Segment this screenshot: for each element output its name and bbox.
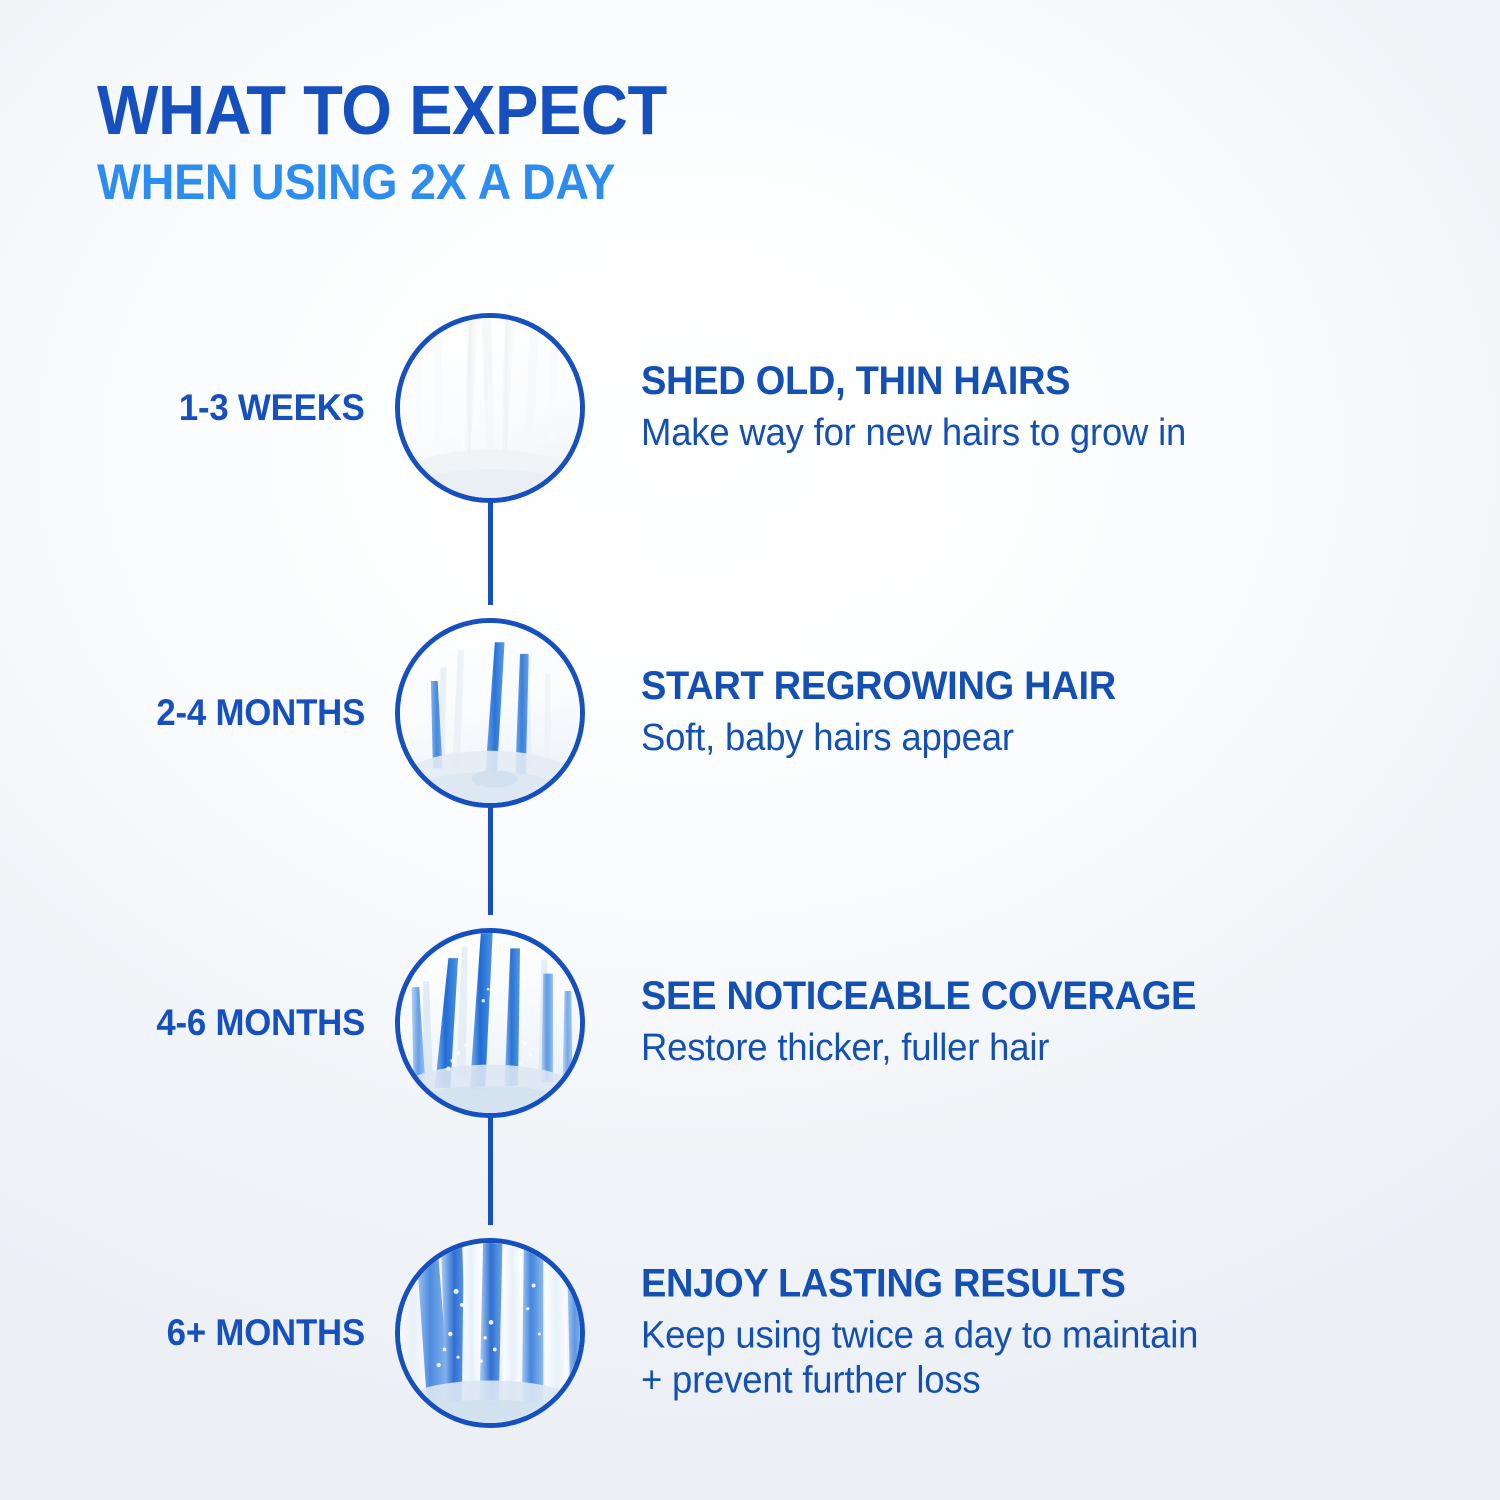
timeline-step-3-period: 4-6 MONTHS [60,1002,365,1044]
timeline-connector-2 [488,800,493,915]
infographic-poster: WHAT TO EXPECT WHEN USING 2X A DAY 1-3 W… [0,0,1500,1500]
timeline-step-1-period: 1-3 WEEKS [60,387,365,429]
hair-follicle-thin-pale-icon [398,316,582,500]
timeline-step-3[interactable]: 4-6 MONTHS [0,923,1500,1123]
timeline-step-4-period: 6+ MONTHS [60,1312,365,1354]
timeline-step-4-headline-text: ENJOY LASTING RESULTS [641,1263,1126,1305]
timeline-step-1-headline: SHED OLD, THIN HAIRS [641,360,1461,402]
timeline-step-3-sub-line-1: Restore thicker, fuller hair [641,1026,1428,1071]
timeline-step-1-period-label: 1-3 WEEKS [179,387,365,429]
timeline-step-2-headline-text: START REGROWING HAIR [641,665,1116,707]
timeline-step-3-headline: SEE NOTICEABLE COVERAGE [641,975,1461,1017]
timeline-step-3-copy: SEE NOTICEABLE COVERAGE Restore thicker,… [641,975,1461,1071]
timeline-step-4-sub-line-2: + prevent further loss [641,1359,1428,1404]
timeline: 1-3 WEEKS [0,290,1500,1460]
timeline-step-1-sub-line-1: Make way for new hairs to grow in [641,411,1428,456]
timeline-step-2-headline: START REGROWING HAIR [641,665,1461,707]
timeline-step-3-image [395,928,585,1118]
timeline-step-3-period-label: 4-6 MONTHS [156,1002,365,1044]
timeline-step-2-image [395,618,585,808]
timeline-step-4-period-label: 6+ MONTHS [167,1312,365,1354]
timeline-step-4-copy: ENJOY LASTING RESULTS Keep using twice a… [641,1263,1461,1404]
hair-follicle-sparse-blue-icon [398,621,582,805]
timeline-step-2-sub-line-1: Soft, baby hairs appear [641,716,1428,761]
hair-follicle-medium-blue-icon [398,931,582,1115]
timeline-step-2-copy: START REGROWING HAIR Soft, baby hairs ap… [641,665,1461,761]
page-title: WHAT TO EXPECT [97,76,1120,145]
timeline-step-3-headline-text: SEE NOTICEABLE COVERAGE [641,975,1196,1017]
timeline-connector-1 [488,495,493,605]
timeline-step-2-period-label: 2-4 MONTHS [156,692,365,734]
timeline-step-4-image [395,1238,585,1428]
timeline-step-1-copy: SHED OLD, THIN HAIRS Make way for new ha… [641,360,1461,456]
timeline-step-4-headline: ENJOY LASTING RESULTS [641,1263,1461,1305]
poster-header: WHAT TO EXPECT WHEN USING 2X A DAY [97,76,1197,207]
timeline-connector-3 [488,1110,493,1225]
timeline-step-4-sub-line-1: Keep using twice a day to maintain [641,1314,1428,1359]
timeline-step-1-image [395,313,585,503]
timeline-step-2-period: 2-4 MONTHS [60,692,365,734]
timeline-step-1-headline-text: SHED OLD, THIN HAIRS [641,360,1070,402]
hair-follicle-thick-blue-icon [398,1241,582,1425]
timeline-step-3-sub: Restore thicker, fuller hair [641,1026,1461,1071]
timeline-step-4-sub: Keep using twice a day to maintain + pre… [641,1314,1461,1404]
timeline-step-1-sub: Make way for new hairs to grow in [641,411,1461,456]
timeline-step-2-sub: Soft, baby hairs appear [641,716,1461,761]
timeline-step-4[interactable]: 6+ MONTHS [0,1233,1500,1433]
timeline-step-1[interactable]: 1-3 WEEKS [0,308,1500,508]
page-subtitle: WHEN USING 2X A DAY [97,157,1120,207]
timeline-step-2[interactable]: 2-4 MONTHS [0,613,1500,813]
